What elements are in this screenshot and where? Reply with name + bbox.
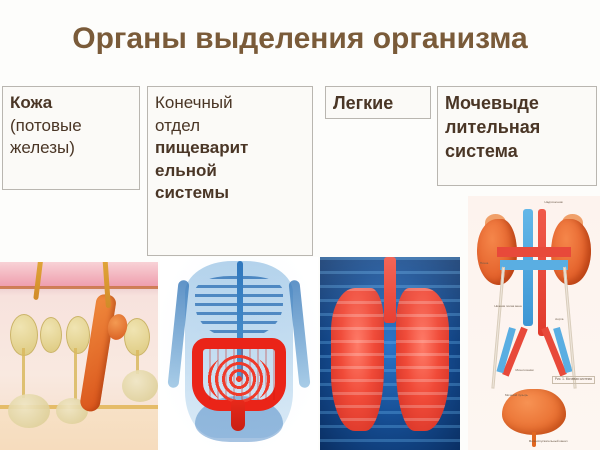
diagram-label: Почка	[480, 262, 488, 265]
illustration-skin	[0, 262, 158, 450]
sweat-gland-icon	[40, 317, 62, 353]
label-line: отдел	[155, 115, 305, 138]
label-box-digestive: Конечный отдел пищеварит ельной системы	[147, 86, 313, 256]
rectum	[231, 400, 245, 431]
sweat-duct	[74, 348, 77, 400]
label-line: Легкие	[333, 92, 423, 116]
page-title: Органы выделения организма	[72, 22, 528, 56]
label-line: лительная	[445, 116, 589, 140]
epidermis-layer	[0, 262, 158, 286]
highlight-overlay	[320, 257, 460, 450]
label-line: системы	[155, 182, 305, 205]
label-line: пищеварит	[155, 137, 305, 160]
gland-coil	[8, 394, 50, 428]
illustration-urinary: Надпочечник Почка Нижняя полая вена Аорт…	[468, 196, 600, 450]
diagram-label: Нижняя полая вена	[494, 305, 521, 308]
renal-artery-right	[529, 247, 571, 257]
title-bar: Органы выделения организма	[0, 0, 600, 78]
diagram-label: Мочеточники	[516, 369, 534, 372]
label-box-urinary: Мочевыде лительная система	[437, 86, 597, 186]
label-line: система	[445, 140, 589, 164]
sweat-gland-icon	[66, 316, 90, 354]
label-box-skin: Кожа (потовые железы)	[2, 86, 140, 190]
gland-coil	[122, 370, 158, 402]
sweat-duct	[22, 348, 25, 398]
figure-caption: Рис. 1. Мочевая система	[552, 376, 595, 384]
label-line: Кожа	[10, 92, 132, 115]
diagram-label: Надпочечник	[545, 201, 563, 204]
illustration-lungs	[320, 257, 460, 450]
diagram-label: Мочеиспускательный канал	[529, 440, 568, 443]
diagram-label: Мочевой пузырь	[505, 394, 528, 397]
diagram-label: Аорта	[555, 318, 563, 321]
label-line: ельной	[155, 160, 305, 183]
label-line: Конечный	[155, 92, 305, 115]
label-line: железы)	[10, 137, 132, 160]
illustration-digestive	[160, 257, 318, 450]
small-intestine	[207, 354, 270, 404]
dermis-boundary	[0, 286, 158, 289]
label-box-lungs: Легкие	[325, 86, 431, 119]
aorta	[538, 209, 546, 336]
label-line: (потовые	[10, 115, 132, 138]
label-line: Мочевыде	[445, 92, 589, 116]
